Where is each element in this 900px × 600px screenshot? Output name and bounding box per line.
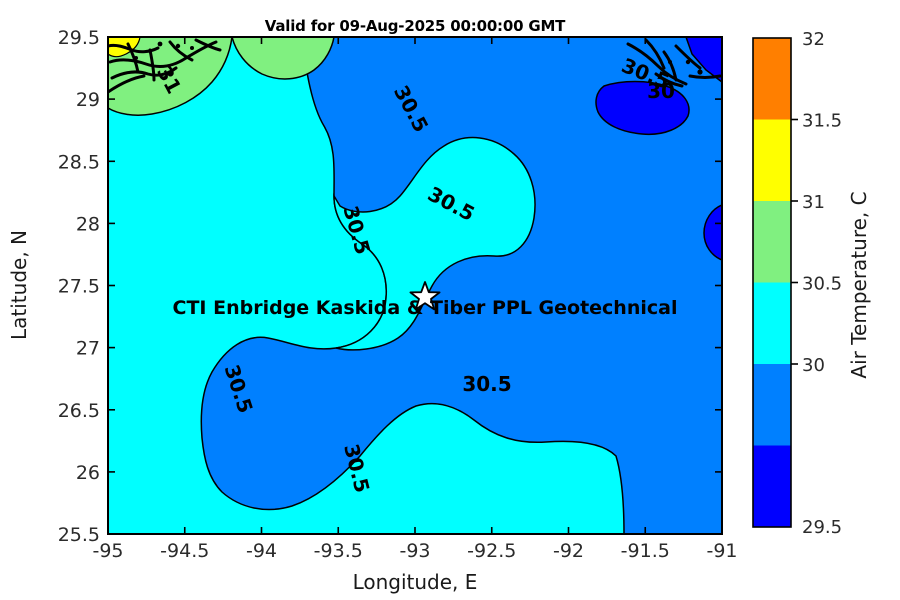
colorbar-band-29p5-30 <box>753 364 791 446</box>
y-tick-label: 27.5 <box>58 276 100 298</box>
plot-canvas: -95 -94.5 -94 -93.5 -93 -92.5 -92 -91.5 … <box>0 0 900 600</box>
contour-map-figure: Valid for 09-Aug-2025 00:00:00 GMT <box>0 0 900 600</box>
x-tick-label: -91.5 <box>621 540 670 562</box>
contour-label: 30 <box>647 79 675 103</box>
y-axis-label: Latitude, N <box>7 230 31 340</box>
x-tick-label: -92 <box>553 540 584 562</box>
colorbar-label: Air Temperature, C <box>847 191 871 378</box>
y-tick-label: 29.5 <box>58 27 100 49</box>
colorbar-tick-label: 31.5 <box>802 111 842 132</box>
colorbar-tick-label: 29.5 <box>802 517 842 538</box>
x-tick-label: -93 <box>399 540 430 562</box>
colorbar-tick-label: 32 <box>802 29 825 50</box>
y-tick-label: 29 <box>76 89 100 111</box>
colorbar-tick-label: 30.5 <box>802 274 842 295</box>
colorbar-band-below-29p5 <box>753 446 791 528</box>
colorbar-tick-label: 30 <box>802 355 825 376</box>
x-axis-label: Longitude, E <box>353 570 478 594</box>
colorbar-band-30-30p5 <box>753 283 791 365</box>
contour-label: 30.5 <box>462 372 511 396</box>
colorbar-band-31-31p5 <box>753 120 791 202</box>
y-tick-label: 28.5 <box>58 151 100 173</box>
x-tick-label: -91 <box>706 540 737 562</box>
y-tick-label: 26 <box>76 462 100 484</box>
colorbar-band-30p5-31 <box>753 201 791 283</box>
y-tick-label: 26.5 <box>58 400 100 422</box>
x-tick-label: -93.5 <box>314 540 363 562</box>
y-tick-label: 27 <box>76 338 100 360</box>
y-tick-labels: 25.5 26 26.5 27 27.5 28 28.5 29 29.5 <box>58 27 100 546</box>
y-tick-label: 28 <box>76 213 100 235</box>
x-tick-labels: -95 -94.5 -94 -93.5 -93 -92.5 -92 -91.5 … <box>92 540 737 562</box>
colorbar-tick-label: 31 <box>802 192 825 213</box>
site-annotation-label: CTI Enbridge Kaskida & Tiber PPL Geotech… <box>173 297 678 319</box>
colorbar: 29.5 30 30.5 31 31.5 32 Air Temperature,… <box>753 29 871 538</box>
colorbar-ticks <box>791 120 798 365</box>
y-tick-label: 25.5 <box>58 524 100 546</box>
x-tick-label: -92.5 <box>467 540 516 562</box>
colorbar-band-31p5-32 <box>753 38 791 120</box>
x-tick-label: -94.5 <box>160 540 209 562</box>
x-tick-label: -94 <box>246 540 277 562</box>
